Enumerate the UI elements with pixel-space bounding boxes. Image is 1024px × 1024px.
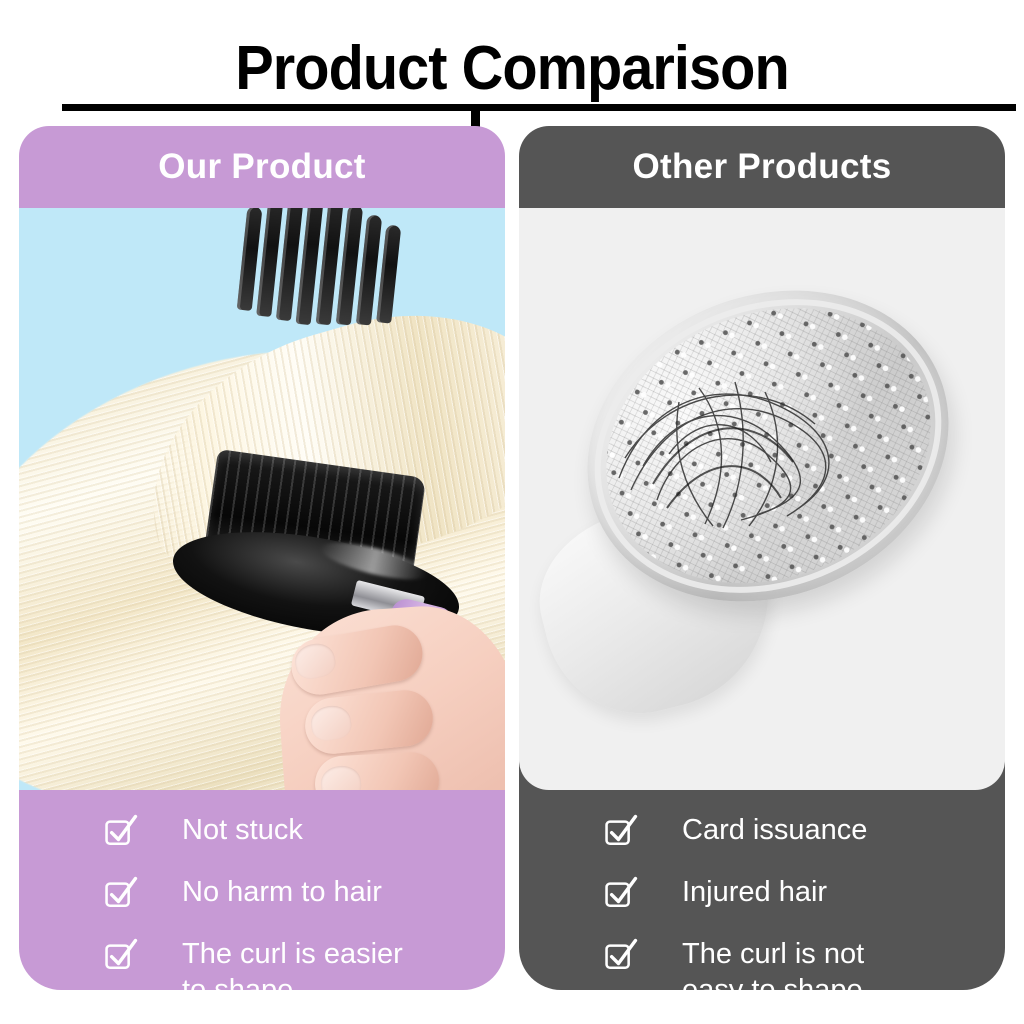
feature-item: The curl is easier to shape — [19, 936, 505, 990]
page-title: Product Comparison — [36, 34, 988, 104]
feature-item: The curl is not easy to shape — [519, 936, 1005, 990]
brush-bristles-top — [234, 208, 409, 356]
feature-list-other-products: Card issuance Injured hair The curl is n… — [519, 790, 1005, 990]
feature-label: Card issuance — [682, 812, 867, 848]
feature-label: Not stuck — [182, 812, 303, 848]
panel-header-label: Other Products — [633, 147, 892, 187]
checkbox-checked-icon — [104, 814, 138, 848]
panel-header-label: Our Product — [158, 147, 365, 187]
feature-list-our-product: Not stuck No harm to hair The curl is ea… — [19, 790, 505, 990]
feature-item: Card issuance — [519, 812, 1005, 848]
feature-label: The curl is not easy to shape — [682, 936, 864, 990]
panel-other-products: Other Products — [519, 126, 1005, 990]
checkbox-checked-icon — [104, 876, 138, 910]
feature-label: No harm to hair — [182, 874, 382, 910]
feature-item: No harm to hair — [19, 874, 505, 910]
checkbox-checked-icon — [604, 938, 638, 972]
panel-header-other-products: Other Products — [519, 126, 1005, 208]
checkbox-checked-icon — [104, 938, 138, 972]
checkbox-checked-icon — [604, 814, 638, 848]
feature-label: Injured hair — [682, 874, 827, 910]
page-title-block: Product Comparison — [0, 34, 1024, 114]
title-underline — [62, 104, 1016, 111]
checkbox-checked-icon — [604, 876, 638, 910]
feature-item: Injured hair — [519, 874, 1005, 910]
product-photo-our-product — [19, 208, 505, 790]
feature-label: The curl is easier to shape — [182, 936, 403, 990]
panel-header-our-product: Our Product — [19, 126, 505, 208]
feature-item: Not stuck — [19, 812, 505, 848]
product-photo-other-products — [519, 208, 1005, 790]
panel-our-product: Our Product — [19, 126, 505, 990]
